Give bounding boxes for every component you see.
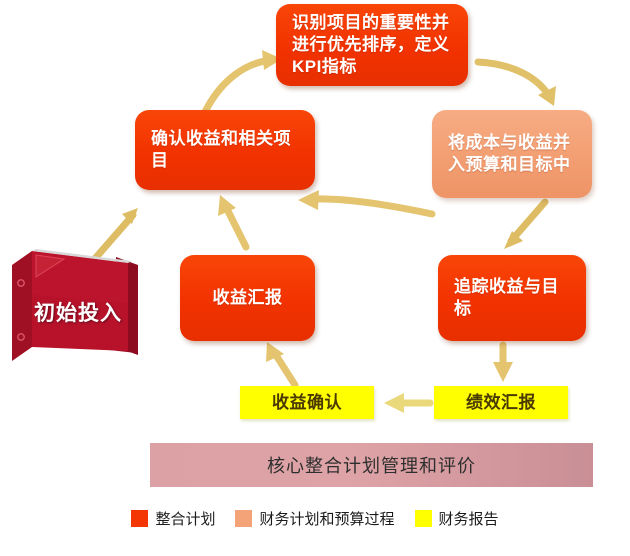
legend-swatch-financial-reporting: [415, 510, 432, 527]
node-benefit-confirmation[interactable]: 收益确认: [240, 386, 374, 419]
node-confirm-benefits[interactable]: 确认收益和相关项目: [135, 110, 315, 190]
legend-item-integration-plan: 整合计划: [131, 508, 215, 529]
arrow-track-to-confirm: [298, 190, 432, 214]
core-program-banner: 核心整合计划管理和评价: [150, 443, 593, 487]
arrow-benefit-confirm-to-benefit-report: [266, 342, 295, 385]
arrow-identify-to-budget: [478, 62, 556, 106]
node-track-benefits[interactable]: 追踪收益与目标: [438, 255, 586, 341]
legend-swatch-financial-planning: [235, 510, 252, 527]
node-identify-priorities-label: 识别项目的重要性并进行优先排序，定义KPI指标: [276, 12, 468, 77]
node-budget-integration[interactable]: 将成本与收益并入预算和目标中: [432, 110, 592, 198]
legend-item-financial-reporting: 财务报告: [415, 508, 499, 529]
diagram-canvas: 初始投入 识别项目的重要性并进行优先排序，定义KPI指标 确认收益和相关项目 将…: [0, 0, 630, 556]
initial-input-binder: 初始投入: [8, 243, 148, 371]
node-identify-priorities[interactable]: 识别项目的重要性并进行优先排序，定义KPI指标: [276, 4, 468, 86]
node-benefit-report[interactable]: 收益汇报: [180, 255, 315, 341]
core-program-banner-label: 核心整合计划管理和评价: [267, 452, 476, 478]
legend-item-financial-planning: 财务计划和预算过程: [235, 508, 394, 529]
legend-label-financial-reporting: 财务报告: [439, 508, 499, 529]
arrow-performance-to-benefit-confirm: [384, 393, 430, 413]
legend-label-financial-planning: 财务计划和预算过程: [259, 508, 394, 529]
node-performance-report-label: 绩效汇报: [434, 392, 568, 414]
node-confirm-benefits-label: 确认收益和相关项目: [135, 128, 315, 172]
node-budget-integration-label: 将成本与收益并入预算和目标中: [432, 132, 592, 176]
arrow-benefit-report-to-confirm: [218, 195, 246, 247]
node-benefit-report-label: 收益汇报: [180, 287, 315, 309]
node-benefit-confirmation-label: 收益确认: [240, 392, 374, 414]
legend: 整合计划 财务计划和预算过程 财务报告: [0, 508, 630, 529]
legend-label-integration-plan: 整合计划: [155, 508, 215, 529]
arrow-budget-to-track: [504, 202, 545, 249]
arrow-track-to-performance-report: [493, 345, 513, 382]
arrow-confirm-to-identify: [205, 50, 282, 112]
initial-input-label: 初始投入: [34, 297, 140, 327]
node-performance-report[interactable]: 绩效汇报: [434, 386, 568, 419]
node-track-benefits-label: 追踪收益与目标: [438, 276, 586, 320]
legend-swatch-integration-plan: [131, 510, 148, 527]
